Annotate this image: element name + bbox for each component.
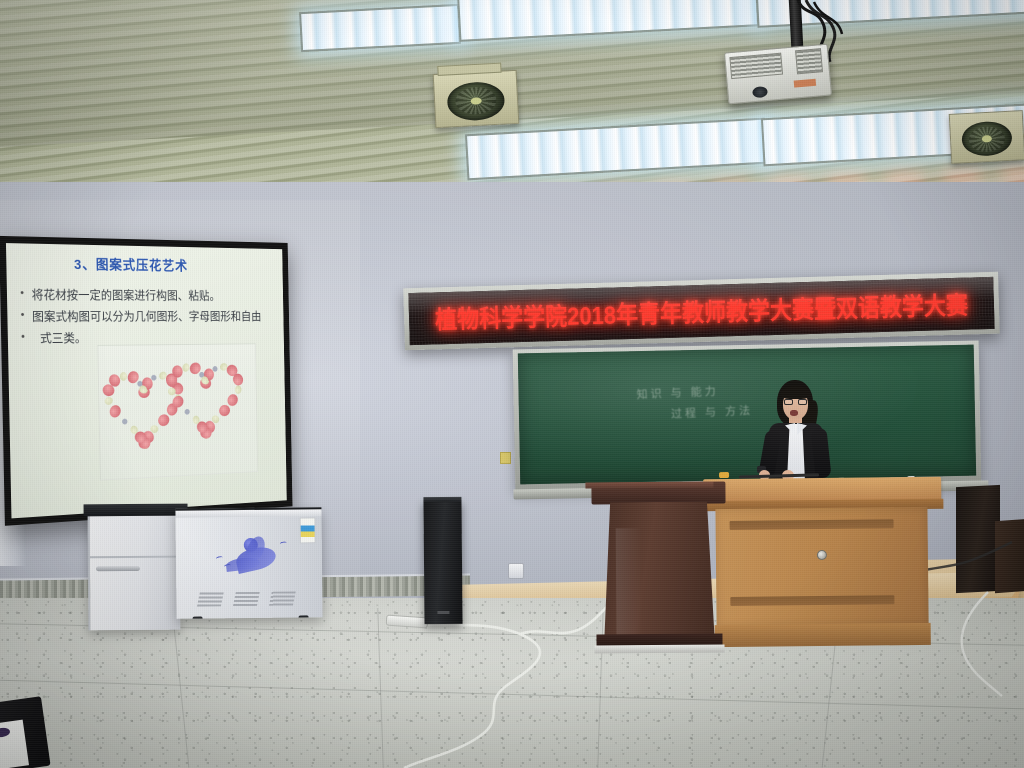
glasses-icon [784, 399, 807, 405]
lectern[interactable] [599, 482, 718, 655]
fan-housing-top [437, 63, 501, 76]
projector-label-sticker [794, 79, 817, 88]
ceiling-fan-icon [949, 110, 1024, 164]
console-slot [730, 519, 894, 530]
flower-bud [184, 408, 190, 415]
projection-screen: 3、图案式压花艺术 将花材按一定的图案进行构图、粘贴。 图案式构图可以分为几何图… [0, 236, 292, 526]
lectern-top-highlight [585, 482, 713, 489]
flower-bud [122, 419, 128, 425]
projector-vent [729, 53, 783, 79]
floor-speaker [423, 500, 462, 624]
vent-grille [233, 592, 260, 606]
glasses-lens [798, 399, 807, 405]
hair-fringe [781, 386, 810, 399]
blackboard-surface: 知识 与 能力 过程 与 方法 [518, 345, 976, 485]
bird-icon [279, 541, 287, 546]
mouth [790, 410, 798, 416]
flower-leaf [168, 388, 176, 396]
speaker-top [423, 497, 461, 502]
blackboard-frame: 知识 与 能力 过程 与 方法 [513, 341, 982, 491]
vent-grille [197, 592, 224, 606]
pressed-flower-heart-right [167, 354, 241, 436]
ceiling-fan-icon [433, 70, 520, 128]
console-body [715, 507, 928, 627]
projector-icon [724, 44, 832, 105]
flower-leaf [120, 372, 127, 381]
lock-icon[interactable] [817, 550, 827, 560]
glasses-lens [784, 399, 793, 405]
bird-icon [216, 556, 224, 561]
speaker-logo [437, 611, 449, 614]
flower-petal [218, 404, 230, 417]
flower-petal [107, 403, 122, 420]
led-panel: 植物科学学院2018年青年教师教学大赛暨双语教学大赛 [408, 277, 994, 345]
energy-label-sticker [300, 517, 316, 543]
console-base [715, 623, 931, 647]
wall-outlet-icon[interactable] [508, 563, 524, 579]
chalk-writing: 知识 与 能力 [636, 382, 719, 402]
fan-disc [961, 120, 1013, 157]
slide-bullet: 图案式构图可以分为几何图形、字母图形和自由 [19, 307, 278, 329]
flower-petal [170, 394, 185, 410]
refrigerator[interactable] [88, 514, 181, 631]
projector-lens [752, 86, 768, 98]
chest-freezer[interactable] [175, 507, 322, 619]
classroom-photo-scene: 3、图案式压花艺术 将花材按一定的图案进行构图、粘贴。 图案式构图可以分为几何图… [0, 0, 1024, 768]
fan-disc [446, 81, 505, 121]
slide-surface: 3、图案式压花艺术 将花材按一定的图案进行构图、粘贴。 图案式构图可以分为几何图… [6, 243, 287, 518]
lectern-highlight [616, 528, 643, 650]
screen-frame: 3、图案式压花艺术 将花材按一定的图案进行构图、粘贴。 图案式构图可以分为几何图… [0, 236, 292, 526]
vent-grille [269, 592, 296, 606]
freezer-decal [218, 534, 290, 577]
slide-flower-heart-image [97, 343, 258, 480]
refrigerator-top [84, 504, 188, 517]
slide-bullet-list: 将花材按一定的图案进行构图、粘贴。 图案式构图可以分为几何图形、字母图形和自由 … [18, 285, 277, 350]
lectern-body [604, 502, 715, 637]
flower-leaf [234, 385, 241, 394]
led-banner-text: 植物科学学院2018年青年教师教学大赛暨双语教学大赛 [435, 286, 969, 337]
marker-icon[interactable] [719, 472, 729, 478]
wall-sticker [500, 452, 511, 464]
slide-title: 3、图案式压花艺术 [74, 254, 188, 275]
console-slot [730, 595, 894, 606]
refrigerator-handle[interactable] [96, 566, 140, 571]
chalk-writing: 过程 与 方法 [671, 402, 754, 422]
freezer-caster [193, 616, 203, 618]
refrigerator-door-seam [90, 556, 180, 559]
blackboard: 知识 与 能力 过程 与 方法 [513, 341, 982, 491]
projector-vent [795, 48, 823, 74]
lectern-top [591, 482, 725, 505]
slide-bullet: 将花材按一定的图案进行构图、粘贴。 [18, 285, 277, 307]
fluorescent-light-panel [299, 4, 461, 52]
teaching-console[interactable] [711, 477, 935, 651]
lectern-foot [595, 645, 725, 654]
